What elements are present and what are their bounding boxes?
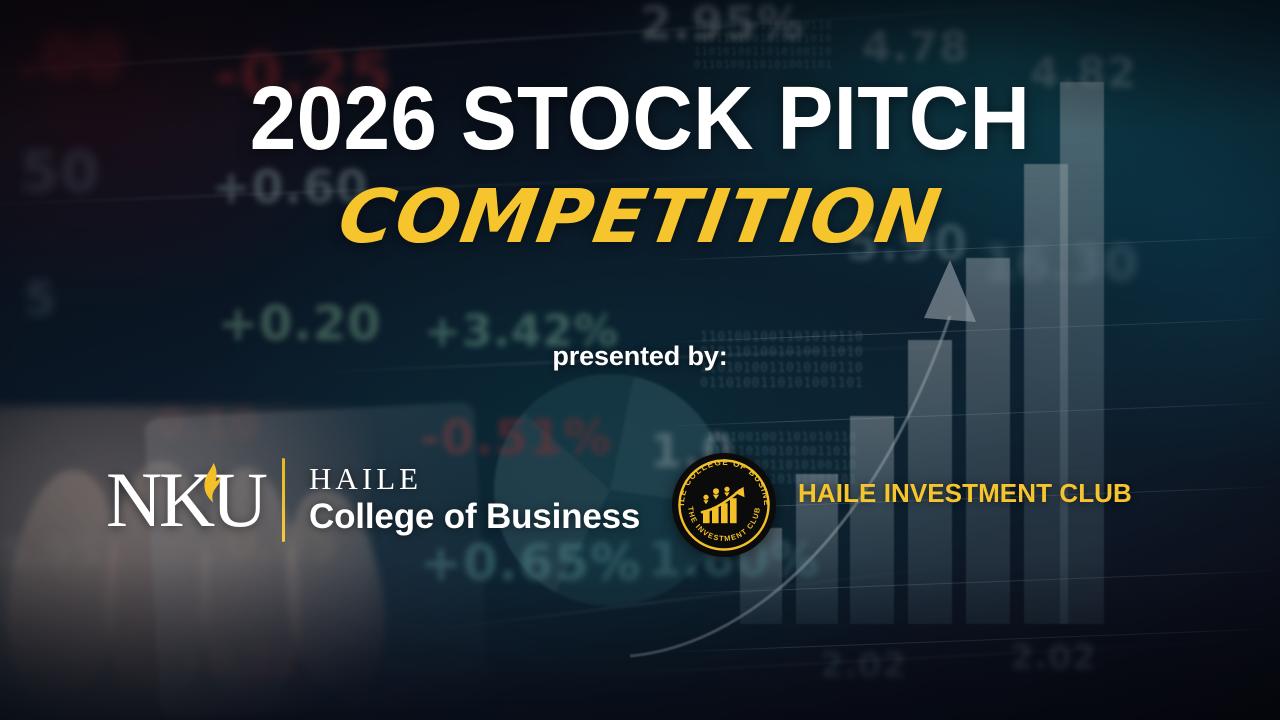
nku-letters: NKU (106, 459, 264, 541)
school-line-college: College of Business (309, 497, 640, 538)
page-title: 2026 STOCK PITCH (45, 74, 1235, 164)
logo-divider (282, 458, 285, 542)
poster-canvas: 1101001001101010110 0101101001010011010 … (0, 0, 1280, 720)
club-badge-logo: HAILE COLLEGE OF BUSINESS THE INVESTMENT… (672, 453, 776, 557)
page-subtitle-script: COMPETITION (0, 180, 1280, 254)
school-line-haile: HAILE (309, 462, 640, 495)
bar-chart-growth-icon (696, 484, 752, 524)
nku-wordmark: NKU (106, 459, 264, 541)
nku-school-text: HAILE College of Business (309, 462, 640, 538)
poster-content: 2026 STOCK PITCH COMPETITION presented b… (0, 0, 1280, 720)
presented-by-label: presented by: (0, 341, 1280, 372)
club-name-label: HAILE INVESTMENT CLUB (798, 478, 1132, 509)
nku-logo: NKU HAILE College of Business (106, 448, 640, 552)
flame-icon (201, 462, 225, 504)
